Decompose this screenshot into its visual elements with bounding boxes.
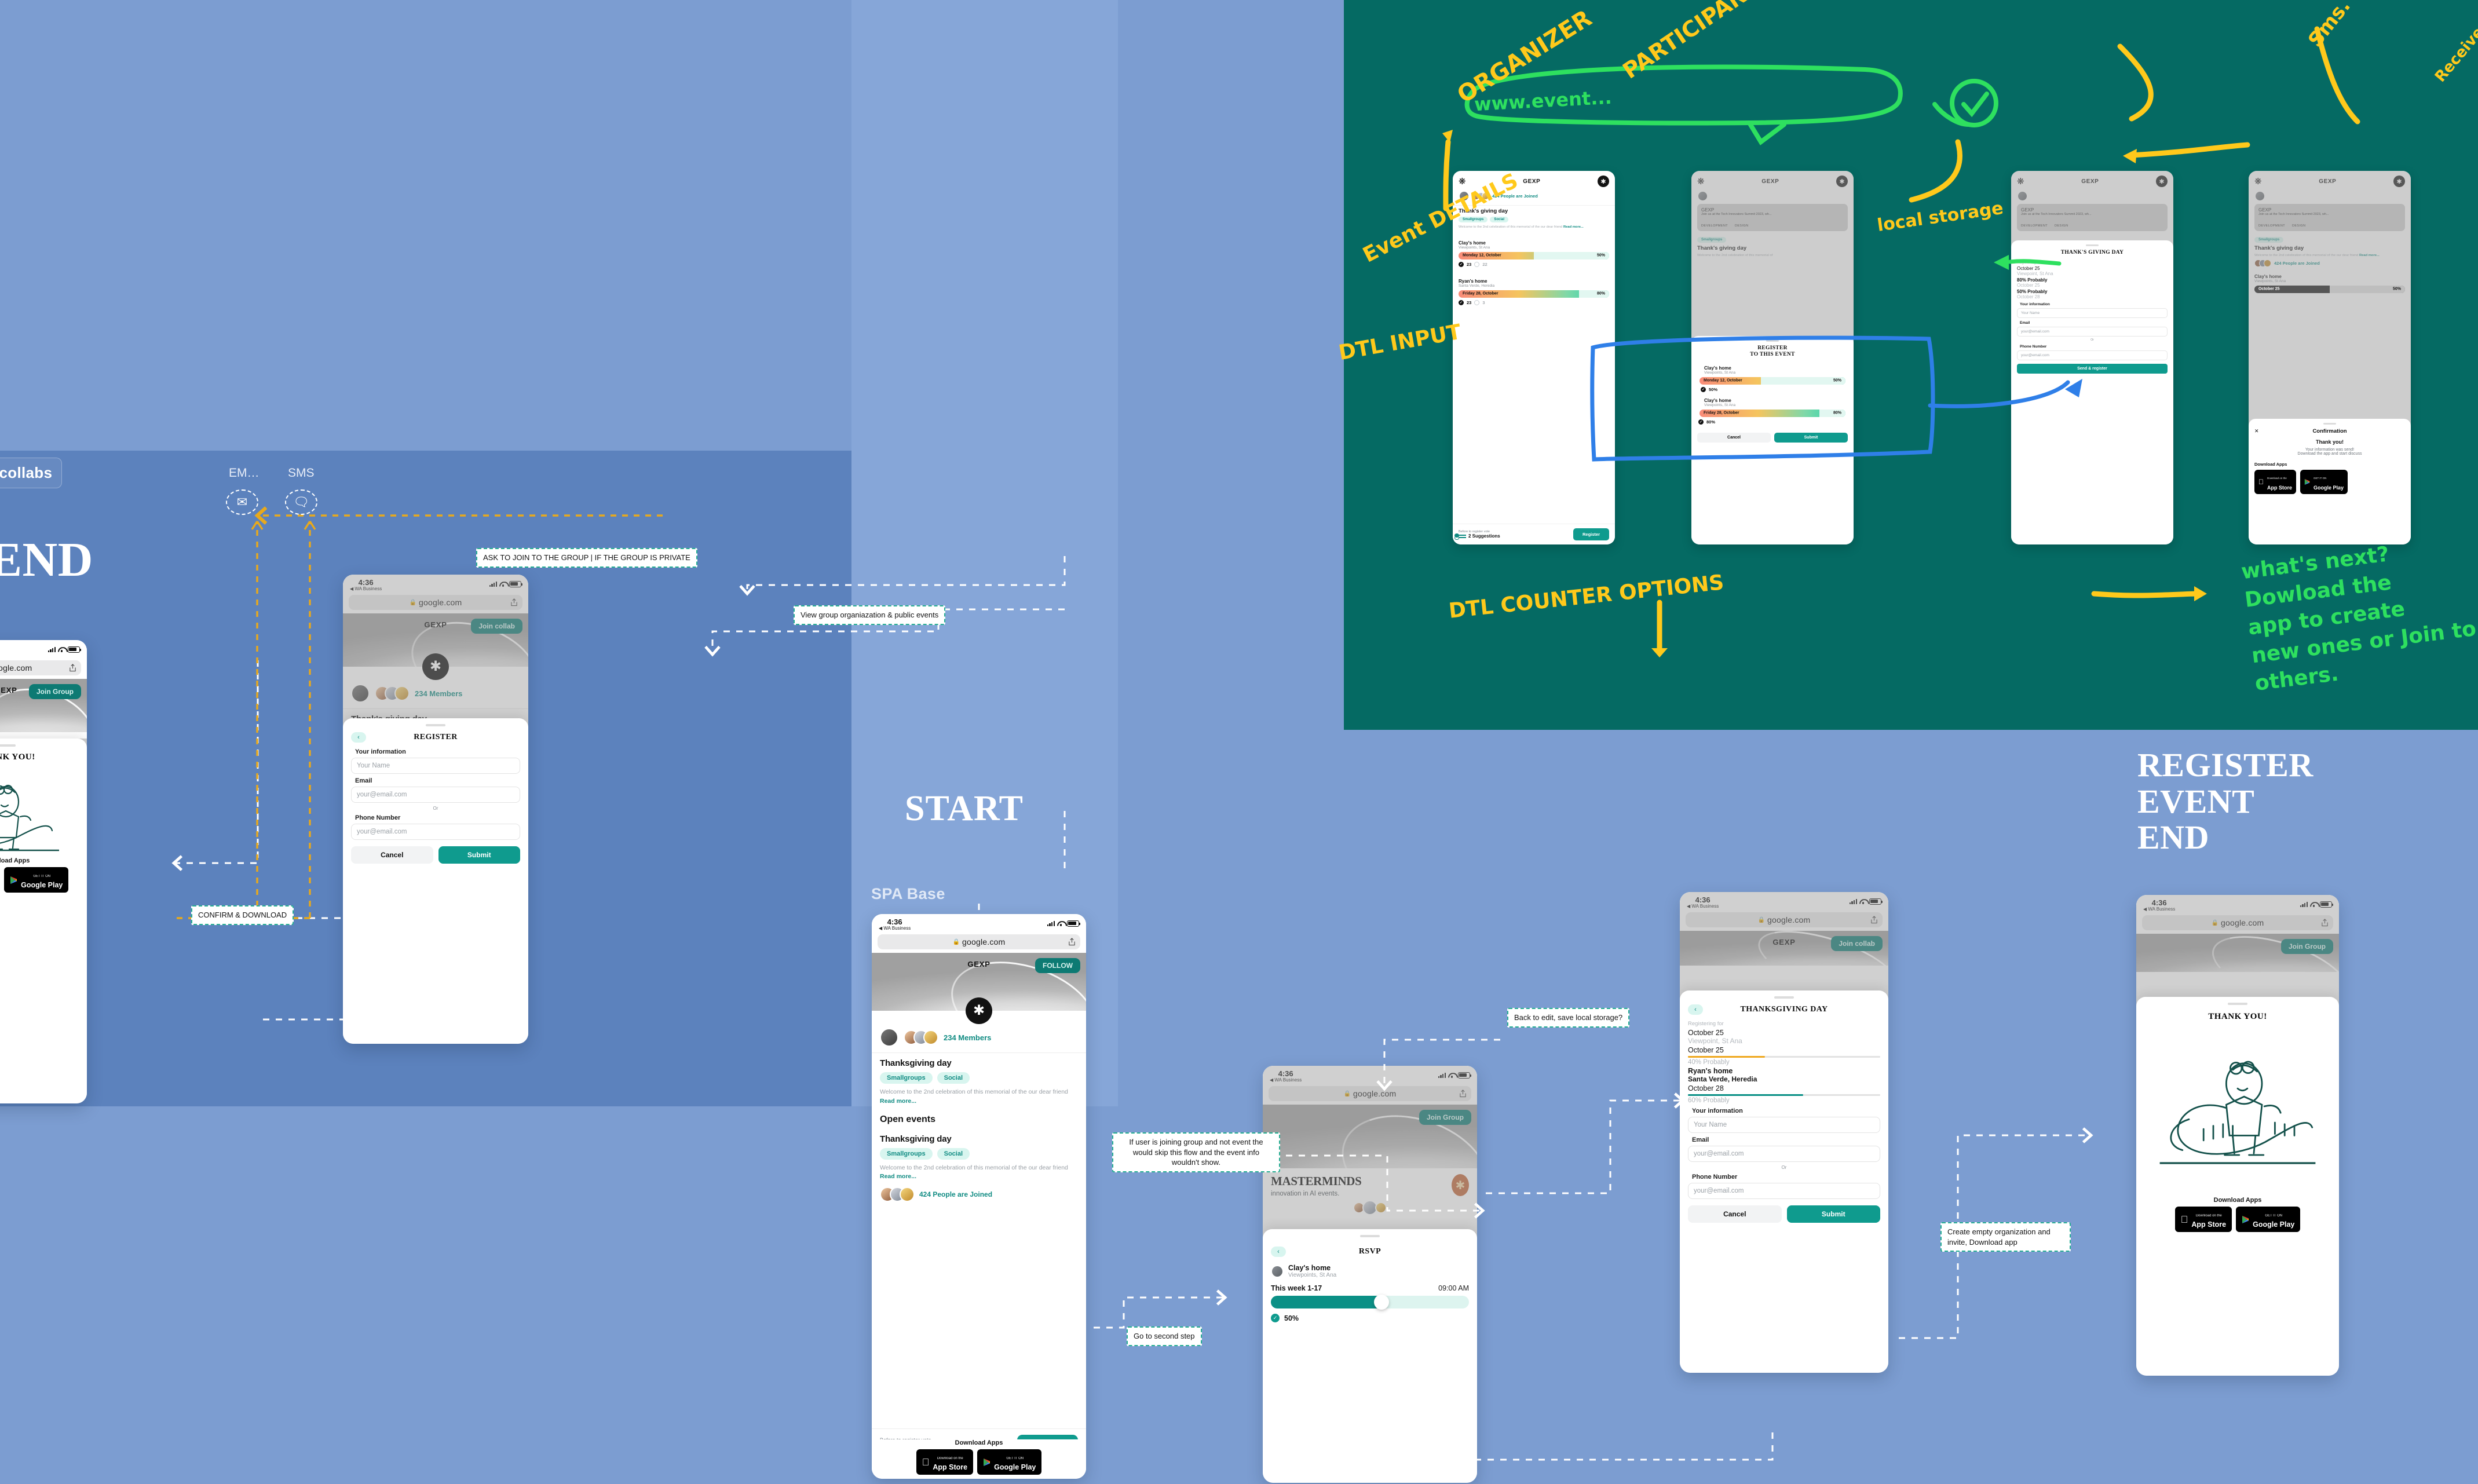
option-progress <box>1688 1094 1880 1096</box>
confirmation-title: Confirmation <box>2254 428 2405 434</box>
label-sms-channel: SMS <box>288 466 315 480</box>
thankyou-title: THANK YOU! <box>0 752 79 762</box>
event-description-2: Welcome to the 2nd celebration of this m… <box>880 1164 1078 1182</box>
appstore-sub: Download on the <box>2267 477 2287 480</box>
pct-label: 50% <box>1284 1314 1299 1322</box>
tag-smallgroups[interactable]: Smallgroups <box>880 1148 933 1160</box>
rsvp-sheet: ‹ RSVP Clay's home Viewpoints, St Ana Th… <box>1263 1229 1477 1483</box>
confirmation-sheet: ✕ Confirmation Thank you! Your informati… <box>2249 419 2411 544</box>
cancel-button[interactable]: Cancel <box>351 846 433 864</box>
option-1: Clay's home Viewpoints, St Ana Monday 12… <box>1453 232 1615 269</box>
note-create-org: Create empty organization and invite, Do… <box>1940 1222 2071 1252</box>
label-spa-base: SPA Base <box>871 885 945 903</box>
option-date: October 28 <box>1688 1084 1880 1092</box>
event-tags: Smallgroups Social <box>880 1072 1078 1084</box>
divider-or: Or <box>2017 338 2168 342</box>
appstore-badge[interactable]:  Download on the App Store <box>2254 470 2296 494</box>
send-register-button[interactable]: Send & register <box>2017 364 2168 374</box>
vote-footer: Before to register vote 2 Suggestions Re… <box>1453 524 1615 544</box>
check-icon: ✓ <box>1459 262 1464 267</box>
event-title-2: Thanksgiving day <box>880 1134 1078 1144</box>
cancel-button[interactable]: Cancel <box>1697 433 1771 443</box>
download-apps: Download Apps  Download on the App Stor… <box>0 853 79 894</box>
sheet-handle[interactable] <box>0 744 16 747</box>
sheet-handle[interactable] <box>426 724 445 726</box>
apple-icon:  <box>2258 478 2264 485</box>
phone-end-thankyou: 4:36 ◀ WA Business 🔒 google.com GEXP Joi… <box>0 640 87 1103</box>
submit-button[interactable]: Submit <box>438 846 521 864</box>
phone-input[interactable]: your@email.com <box>2017 350 2168 360</box>
option-label: Monday 12, October <box>1704 379 1742 383</box>
option-progress <box>1688 1056 1880 1058</box>
label-email: Email <box>355 777 520 784</box>
google-play-icon <box>10 876 17 884</box>
register-sheet: ‹ REGISTER Your information Your Name Em… <box>343 718 528 1044</box>
googleplay-badge[interactable]: GET IT ON Google Play <box>977 1449 1041 1475</box>
phone-rsvp: 4:36 ◀ WA Business 🔒 google.com Join Gro… <box>1263 1066 1477 1483</box>
chip-collabs: ps / collabs <box>0 458 62 488</box>
note-ask-to-join: ASK TO JOIN TO THE GROUP | IF THE GROUP … <box>476 548 697 568</box>
appstore-sub: Download on the <box>937 1457 963 1460</box>
empty-circle-icon <box>1474 300 1479 305</box>
teal-card-register-event: ❋ GEXP ✱ GEXP Join us at the Tech Innova… <box>1691 171 1854 544</box>
option-place: Santa Verde, Heredia <box>1459 284 1609 288</box>
week-row: This week 1-17 09:00 AM <box>1271 1284 1469 1292</box>
check-icon: ✓ <box>1701 387 1706 392</box>
download-apps-label: Download Apps <box>2144 1197 2331 1204</box>
label-your-information: Your information <box>1692 1107 1880 1114</box>
note-second-step: Go to second step <box>1127 1326 1202 1346</box>
option-place: Santa Verde, Heredia <box>1688 1075 1880 1083</box>
gplay-sub: GET IT ON <box>2313 477 2326 480</box>
appstore-main: App Store <box>933 1463 967 1471</box>
group-hero: GEXP FOLLOW ✱ <box>872 953 1086 1011</box>
sheet-title: THANKSGIVING DAY <box>1688 1005 1880 1014</box>
option-gradient-bar[interactable]: Friday 28, October 80% <box>1699 410 1845 417</box>
name-input[interactable]: Your Name <box>351 758 520 774</box>
read-more-link[interactable]: Read more... <box>880 1098 916 1105</box>
logo-asterisk-icon: ✱ <box>1598 176 1609 187</box>
sheet-title: REGISTER <box>351 733 520 742</box>
sheet-header: ‹ THANKSGIVING DAY <box>1688 1004 1880 1015</box>
wifi-icon <box>58 646 65 652</box>
browser-url-bar[interactable]: 🔒 google.com <box>0 660 81 675</box>
read-more-link[interactable]: Read more... <box>1563 225 1584 229</box>
appstore-sub: Download on the <box>2196 1214 2222 1218</box>
apple-icon:  <box>922 1457 930 1467</box>
appstore-badge[interactable]:  Download on the App Store <box>916 1449 973 1475</box>
appstore-main: App Store <box>2267 485 2292 491</box>
no-count: 3 <box>1482 300 1485 305</box>
appstore-badge[interactable]:  Download on the App Store <box>2175 1207 2232 1232</box>
option-progress-fill <box>1688 1094 1803 1096</box>
option-label: Monday 12, October <box>1463 254 1501 258</box>
confirmation-line1: Your information was send! <box>2254 448 2405 452</box>
label-email: Email <box>1692 1136 1880 1143</box>
tag-smallgroups[interactable]: Smallgroups <box>880 1072 933 1084</box>
email-input[interactable]: your@email.com <box>2017 327 2168 337</box>
line-date-3: October 28 <box>2017 294 2168 299</box>
event-tags: Smallgroups Social <box>1459 217 1609 222</box>
battery-icon <box>1067 920 1079 927</box>
thankyou-sheet: THANK YOU! <box>2136 997 2339 1376</box>
register-event-sheet: REGISTER TO THIS EVENT Clay's home Viewp… <box>1691 336 1854 544</box>
tag-social[interactable]: Social <box>1490 217 1508 222</box>
download-apps: Download Apps  Download on the App Stor… <box>2144 1194 2331 1236</box>
registering-for-block: Registering for October 25 Viewpoint, St… <box>2017 261 2168 299</box>
option-probability: 60% Probably <box>1688 1097 1880 1104</box>
section-title-start: START <box>905 791 1024 827</box>
googleplay-badge[interactable]: GET IT ON Google Play <box>2236 1207 2300 1232</box>
name-input[interactable]: Your Name <box>1688 1117 1880 1133</box>
option-gradient-bar[interactable]: Friday 28, October 80% <box>1459 290 1609 298</box>
googleplay-badge[interactable]: GET IT ON Google Play <box>2300 470 2348 494</box>
sheet-handle[interactable] <box>2086 244 2099 246</box>
avatar <box>1271 1265 1284 1278</box>
note-back-to-edit: Back to edit, save local storage? <box>1507 1008 1629 1028</box>
thankyou-title: THANK YOU! <box>2144 1012 2331 1022</box>
sheet-title: REGISTER TO THIS EVENT <box>1697 345 1848 359</box>
label-email: Email <box>2020 321 2168 325</box>
sheet-actions: Cancel Submit <box>1688 1205 1880 1223</box>
url-text: google.com <box>0 663 32 672</box>
tag-social[interactable]: Social <box>937 1148 970 1160</box>
line-prob-1: 80% Probably <box>2017 277 2168 283</box>
teal-card-thanksgiving-form: ❋ GEXP ✱ GEXP Join us at the Tech Innova… <box>2011 171 2173 544</box>
section-title-register-event-end: REGISTER EVENT END <box>2137 747 2313 856</box>
phone-input[interactable]: your@email.com <box>1688 1183 1880 1199</box>
line-prob-2: 50% Probably <box>2017 289 2168 294</box>
joined-row: 424 People are Joined <box>880 1187 1078 1202</box>
sheet-handle[interactable] <box>1774 996 1794 999</box>
download-apps-label: Download Apps <box>2254 462 2405 467</box>
sheet-actions: Cancel Submit <box>351 846 520 864</box>
option-2: Clay's home Viewpoints, St Ana Friday 28… <box>1697 398 1848 425</box>
line-date-1: October 25 <box>2017 266 2168 271</box>
line-date-2: October 25 <box>2017 283 2168 288</box>
section-title-end: END <box>0 536 93 584</box>
sheet-header: ‹ RSVP <box>1271 1247 1469 1257</box>
option-label: Friday 28, October <box>1463 292 1498 296</box>
thankyou-illustration <box>0 766 79 853</box>
option-place: Viewpoints, St Ana <box>1459 246 1609 250</box>
open-events-section: Open events <box>872 1106 1086 1125</box>
option-pct: 50% <box>1833 379 1841 383</box>
option-counts: ✓23 3 <box>1459 300 1609 305</box>
option-name: Clay's home <box>1704 398 1848 403</box>
phone-thanksgiving-register: 4:36 ◀ WA Business 🔒 google.com GEXP Joi… <box>1680 892 1888 1373</box>
name-input[interactable]: Your Name <box>2017 308 2168 318</box>
thanksgiving-form-sheet: THANK'S GIVING DAY Registering for Octob… <box>2011 240 2173 544</box>
slider-knob[interactable] <box>1374 1295 1389 1310</box>
browser-url-bar[interactable]: 🔒 google.com <box>878 934 1080 949</box>
sheet-header: ‹ REGISTER <box>351 732 520 743</box>
group-hero: GEXP Join Group <box>0 679 87 732</box>
event-description: Welcome to the 2nd celebration of this m… <box>880 1088 1078 1106</box>
gplay-main: Google Play <box>2253 1220 2294 1229</box>
avatar <box>880 1028 898 1047</box>
label-your-information: Your information <box>355 748 520 755</box>
week-label: This week 1-17 <box>1271 1284 1322 1292</box>
registering-for-label: Registering for <box>1688 1021 1880 1027</box>
thankyou-sheet: THANK YOU! Download Apps <box>0 739 87 1103</box>
host-place: Viewpoints, St Ana <box>1288 1272 1336 1278</box>
option-pct: 80% <box>1597 292 1605 296</box>
probability-value: ✓ 50% <box>1271 1314 1469 1322</box>
host-row: Clay's home Viewpoints, St Ana <box>1271 1264 1469 1278</box>
option-name: Ryan's home <box>1459 279 1609 284</box>
suggestions: 2 Suggestions <box>1459 533 1500 539</box>
lock-icon: 🔒 <box>953 939 960 945</box>
email-input[interactable]: your@email.com <box>351 787 520 803</box>
joined-count: 424 People are Joined <box>919 1190 992 1198</box>
register-button[interactable]: Register <box>1573 528 1609 540</box>
status-time: 4:36 <box>879 918 911 926</box>
phone-input[interactable]: your@email.com <box>351 824 520 840</box>
submit-button[interactable]: Submit <box>1787 1205 1881 1223</box>
status-bar: 4:36 ◀ WA Business <box>0 640 87 658</box>
sms-icon: 🗨 <box>285 489 317 515</box>
option-counts: ✓23 22 <box>1459 262 1609 267</box>
cancel-button[interactable]: Cancel <box>1688 1205 1782 1223</box>
option-gradient-bar[interactable]: Monday 12, October 50% <box>1459 252 1609 259</box>
battery-icon <box>68 646 80 653</box>
confirmation-thankyou: Thank you! <box>2254 439 2405 445</box>
option-date: October 25 <box>1688 1046 1880 1054</box>
option-progress-fill <box>1688 1056 1765 1058</box>
note-skip-flow: If user is joining group and not event t… <box>1112 1132 1280 1172</box>
option-check-value: 50% <box>1709 387 1717 392</box>
phone-spa-base: 4:36 ◀ WA Business 🔒 google.com GEXP FOL… <box>872 914 1086 1479</box>
share-icon[interactable] <box>69 664 76 672</box>
share-icon[interactable] <box>1068 938 1076 946</box>
brand-label: GEXP <box>967 960 990 968</box>
confirmation-line2: Download the app and start discuss <box>2254 452 2405 456</box>
option-label: October 25 <box>2258 287 2280 291</box>
signal-icon <box>48 647 56 652</box>
probability-slider[interactable] <box>1271 1296 1469 1308</box>
divider-or: Or <box>1688 1165 1880 1170</box>
option-pct: 50% <box>2393 287 2401 291</box>
label-your-information: Your information <box>2020 302 2168 306</box>
thankyou-illustration <box>2144 1026 2331 1194</box>
poll-icon <box>1459 535 1466 538</box>
gplay-main: Google Play <box>2313 485 2344 491</box>
email-input[interactable]: your@email.com <box>1688 1146 1880 1162</box>
option-check-value: 80% <box>1706 419 1715 425</box>
check-icon: ✓ <box>1271 1314 1280 1322</box>
option-place: Viewpoints, St Ana <box>1704 371 1848 375</box>
wifi-icon <box>1057 920 1065 926</box>
handwriting-whats-next: what's next? Dowload the app to create n… <box>2240 531 2478 699</box>
gplay-sub: GET IT ON <box>33 875 50 878</box>
brand-label: GEXP <box>1523 178 1540 185</box>
note-confirm-download: CONFIRM & DOWNLOAD <box>191 905 294 925</box>
label-phone: Phone Number <box>1692 1174 1880 1180</box>
sheet-handle[interactable] <box>1360 1235 1380 1237</box>
event-tags-2: Smallgroups Social <box>880 1148 1078 1160</box>
avatar-stack <box>904 1030 938 1045</box>
label-phone: Phone Number <box>2020 345 2168 349</box>
sheet-handle[interactable] <box>2228 1003 2247 1005</box>
status-carrier: ◀ WA Business <box>879 926 911 931</box>
read-more-link[interactable]: Read more... <box>880 1173 916 1180</box>
sheet-title: THANK'S GIVING DAY <box>2017 250 2168 256</box>
google-play-icon <box>983 1458 991 1467</box>
appstore-main: App Store <box>2191 1220 2226 1229</box>
tag-social[interactable]: Social <box>937 1072 970 1084</box>
yes-count: 23 <box>1467 300 1471 305</box>
sheet-handle[interactable] <box>2323 423 2336 425</box>
sheet-title: RSVP <box>1271 1247 1469 1256</box>
note-view-group: View group organiazation & public events <box>794 605 945 625</box>
apple-icon:  <box>2181 1215 2188 1225</box>
canvas-light-strip <box>851 0 1118 452</box>
phone-register-end-thankyou: 4:36 ◀ WA Business 🔒 google.com Join Gro… <box>2136 895 2339 1376</box>
registering-for-label: Registering for <box>2017 261 2168 265</box>
label-phone: Phone Number <box>355 814 520 821</box>
network-icon: ❋ <box>1459 177 1466 186</box>
email-icon: ✉ <box>226 489 258 515</box>
url-text: google.com <box>962 937 1005 946</box>
option-2: Ryan's home Santa Verde, Heredia Friday … <box>1453 269 1615 308</box>
teal-card-event-options: ❋ GEXP ✱ 424 People are Joined Thank's g… <box>1453 171 1615 544</box>
logo-asterisk-icon: ✱ <box>966 997 992 1024</box>
event-description: Welcome to the 2nd celebration of this m… <box>1459 225 1609 230</box>
gplay-main: Google Play <box>21 881 63 889</box>
host-name: Clay's home <box>1288 1264 1336 1272</box>
option-label: Friday 28, October <box>1704 411 1739 415</box>
divider-or: Or <box>351 806 520 811</box>
gplay-sub: GET IT ON <box>2265 1214 2282 1218</box>
option-name: Ryan's home <box>1688 1067 1880 1075</box>
slider-fill <box>1271 1296 1382 1308</box>
option-1: Clay's home Viewpoints, St Ana Monday 12… <box>1697 365 1848 392</box>
download-apps-label: Download Apps <box>0 857 79 864</box>
option-name: Clay's home <box>1459 240 1609 246</box>
signal-icon <box>1047 921 1055 926</box>
check-icon: ✓ <box>1459 300 1464 305</box>
option-probability: 40% Probably <box>1688 1059 1880 1066</box>
option-name: Clay's home <box>1704 365 1848 371</box>
empty-circle-icon <box>1474 262 1479 267</box>
option-place: Viewpoints, St Ana <box>1704 403 1848 407</box>
status-bar: 4:36 ◀ WA Business <box>872 914 1086 932</box>
brand-label: GEXP <box>0 686 17 695</box>
check-icon: ✓ <box>1698 419 1704 425</box>
avatar-stack <box>880 1187 915 1202</box>
option-name: October 25 <box>1688 1029 1880 1037</box>
option-gradient-bar[interactable]: Monday 12, October 50% <box>1699 377 1845 385</box>
submit-button[interactable]: Submit <box>1774 433 1848 443</box>
yes-count: 23 <box>1467 262 1471 267</box>
event-section-2: Thanksgiving day Smallgroups Social Welc… <box>872 1125 1086 1202</box>
no-count: 22 <box>1482 262 1487 267</box>
sheet-handle[interactable] <box>1766 340 1779 342</box>
option-pct: 80% <box>1833 411 1841 415</box>
line-place-1: Viewpoint, St Ana <box>2017 271 2168 276</box>
google-play-icon <box>2242 1215 2249 1224</box>
join-group-button[interactable]: Join Group <box>29 684 81 699</box>
google-play-icon <box>2304 478 2310 485</box>
thanksgiving-sheet: ‹ THANKSGIVING DAY Registering for Octob… <box>1680 990 1888 1373</box>
option-place: Viewpoint, St Ana <box>1688 1037 1880 1045</box>
download-apps-label: Download Apps <box>872 1439 1086 1446</box>
option-2: Ryan's home Santa Verde, Heredia October… <box>1688 1067 1880 1104</box>
option-1: October 25 Viewpoint, St Ana October 25 … <box>1688 1029 1880 1066</box>
option-check: ✓50% <box>1701 387 1848 392</box>
teal-card-confirmation: ❋ GEXP ✱ GEXP Join us at the Tech Innova… <box>2249 171 2411 544</box>
phone-register: 4:36 ◀ WA Business 🔒 google.com GEXP Joi… <box>343 575 528 1044</box>
option-check: ✓80% <box>1698 419 1848 425</box>
sheet-actions: Cancel Submit <box>1697 433 1848 443</box>
download-apps: Download Apps  Download on the App Stor… <box>872 1439 1086 1479</box>
follow-button[interactable]: FOLLOW <box>1035 958 1080 973</box>
googleplay-badge[interactable]: GET IT ON Google Play <box>4 867 68 893</box>
label-email-channel: EM… <box>229 466 260 480</box>
option-pct: 50% <box>1597 254 1605 258</box>
gplay-main: Google Play <box>994 1463 1036 1471</box>
time-label: 09:00 AM <box>1438 1284 1469 1292</box>
event-section-1: Thanksgiving day Smallgroups Social Welc… <box>872 1053 1086 1106</box>
gplay-sub: GET IT ON <box>1006 1457 1024 1460</box>
event-title: Thanksgiving day <box>880 1058 1078 1068</box>
open-events-heading: Open events <box>880 1114 1078 1125</box>
